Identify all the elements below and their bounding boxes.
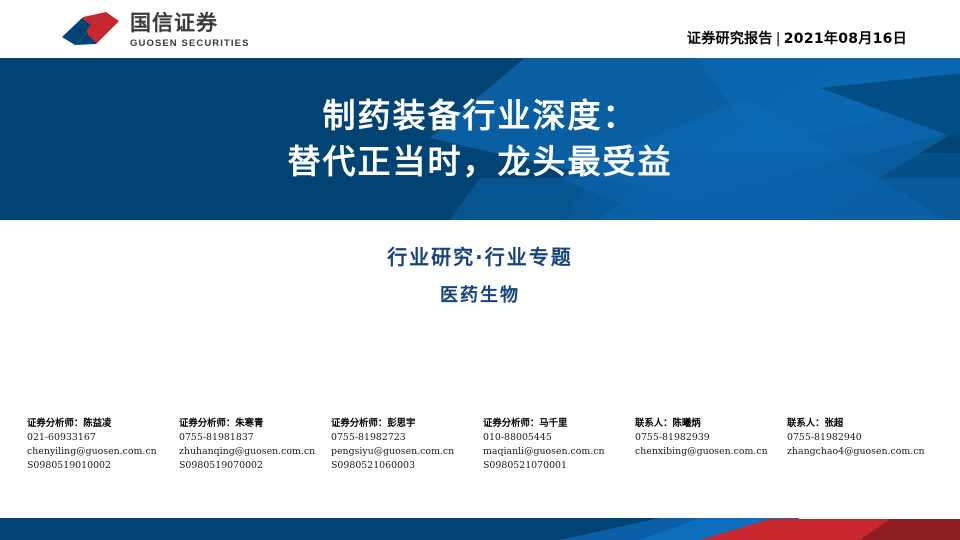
analyst-phone: 010-88005445 <box>483 431 635 445</box>
analyst-email[interactable]: zhuhanqing@guosen.com.cn <box>179 445 331 459</box>
analyst-license: S0980521060003 <box>331 459 483 473</box>
analyst-email[interactable]: chenyiling@guosen.com.cn <box>27 445 179 459</box>
analyst-phone: 0755-81982940 <box>787 431 939 445</box>
footer-decorative-bar <box>0 510 960 540</box>
logo-text: 国信证券 GUOSEN SECURITIES <box>130 11 250 50</box>
analyst-column: 联系人：陈曦炳 0755-81982939 chenxibing@guosen.… <box>635 417 787 459</box>
logo-english-name: GUOSEN SECURITIES <box>130 38 250 50</box>
analyst-license: S0980519010002 <box>27 459 179 473</box>
analyst-column: 证券分析师：马千里 010-88005445 maqianli@guosen.c… <box>483 417 635 473</box>
analyst-license: S0980521070001 <box>483 459 635 473</box>
analyst-license: S0980519070002 <box>179 459 331 473</box>
analyst-name: 证券分析师：朱寒青 <box>179 417 331 431</box>
meta-separator: | <box>776 31 781 47</box>
analyst-name: 证券分析师：彭思宇 <box>331 417 483 431</box>
analyst-name: 联系人：陈曦炳 <box>635 417 787 431</box>
logo-chinese-name: 国信证券 <box>130 12 218 35</box>
analyst-name: 证券分析师：马千里 <box>483 417 635 431</box>
analyst-phone: 0755-81981837 <box>179 431 331 445</box>
analyst-name: 联系人：张超 <box>787 417 939 431</box>
title-banner: 制药装备行业深度： 替代正当时，龙头最受益 <box>0 58 960 220</box>
report-type-label: 证券研究报告 <box>687 31 773 47</box>
analyst-phone: 0755-81982939 <box>635 431 787 445</box>
guosen-logo-icon <box>60 11 120 47</box>
report-meta: 证券研究报告|2021年08月16日 <box>687 28 907 48</box>
analyst-contacts: 证券分析师：陈益凌 021-60933167 chenyiling@guosen… <box>27 417 947 473</box>
analyst-phone: 0755-81982723 <box>331 431 483 445</box>
company-logo: 国信证券 GUOSEN SECURITIES <box>60 11 250 50</box>
analyst-name: 证券分析师：陈益凌 <box>27 417 179 431</box>
analyst-phone: 021-60933167 <box>27 431 179 445</box>
report-title: 制药装备行业深度： 替代正当时，龙头最受益 <box>0 58 960 220</box>
research-category: 行业研究·行业专题 <box>0 243 960 271</box>
title-line-1: 制药装备行业深度： <box>323 93 638 139</box>
analyst-column: 证券分析师：朱寒青 0755-81981837 zhuhanqing@guose… <box>179 417 331 473</box>
page-header: 国信证券 GUOSEN SECURITIES 证券研究报告|2021年08月16… <box>0 0 960 58</box>
title-line-2: 替代正当时，龙头最受益 <box>288 139 673 185</box>
analyst-email[interactable]: maqianli@guosen.com.cn <box>483 445 635 459</box>
report-date: 2021年08月16日 <box>784 31 907 47</box>
subtitle-section: 行业研究·行业专题 医药生物 <box>0 243 960 309</box>
analyst-email[interactable]: chenxibing@guosen.com.cn <box>635 445 787 459</box>
analyst-column: 证券分析师：陈益凌 021-60933167 chenyiling@guosen… <box>27 417 179 473</box>
research-sector: 医药生物 <box>0 283 960 309</box>
analyst-email[interactable]: zhangchao4@guosen.com.cn <box>787 445 939 459</box>
analyst-email[interactable]: pengsiyu@guosen.com.cn <box>331 445 483 459</box>
analyst-column: 证券分析师：彭思宇 0755-81982723 pengsiyu@guosen.… <box>331 417 483 473</box>
analyst-column: 联系人：张超 0755-81982940 zhangchao4@guosen.c… <box>787 417 939 459</box>
